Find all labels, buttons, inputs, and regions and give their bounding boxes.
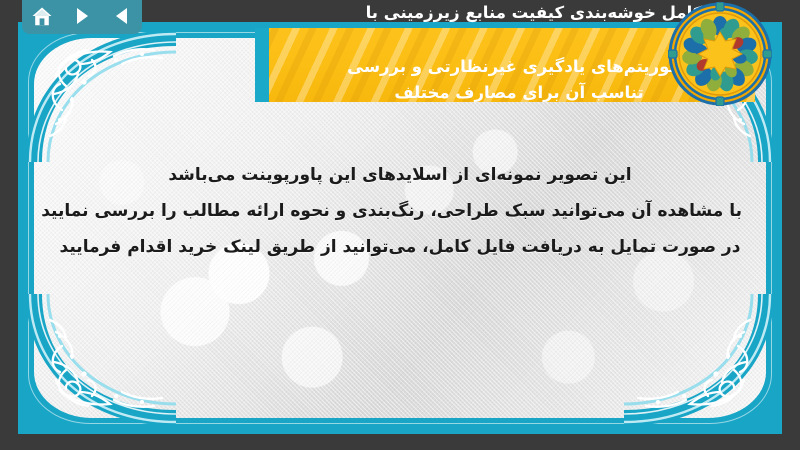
slide-title-line-1: کامل خوشه‌بندی کیفیت منابع زیرزمینی با <box>255 0 755 26</box>
slide-body: این تصویر نمونه‌ای از اسلایدهای این پاور… <box>58 157 742 265</box>
next-slide-button[interactable] <box>69 4 95 28</box>
slide-title-banner: کامل خوشه‌بندی کیفیت منابع زیرزمینی با ا… <box>255 28 755 102</box>
slide-viewer: این تصویر نمونه‌ای از اسلایدهای این پاور… <box>0 0 800 450</box>
triangle-left-icon <box>113 6 131 26</box>
body-line-3: در صورت تمایل به دریافت فایل کامل، می‌تو… <box>58 229 742 265</box>
navigation-toolbar <box>22 0 142 34</box>
slide-title-line-3: تناسب آن برای مصارف مختلف <box>394 80 643 102</box>
previous-slide-button[interactable] <box>109 4 135 28</box>
banner-title-text: کامل خوشه‌بندی کیفیت منابع زیرزمینی با ا… <box>255 28 755 102</box>
triangle-right-icon <box>73 6 91 26</box>
body-line-2: با مشاهده آن می‌توانید سبک طراحی، رنگ‌بن… <box>58 193 742 229</box>
slide-title-line-2: الگوریتم‌های یادگیری غیرنظارتی و بررسی <box>347 54 691 80</box>
body-line-1: این تصویر نمونه‌ای از اسلایدهای این پاور… <box>58 157 742 193</box>
home-icon <box>31 6 53 27</box>
home-button[interactable] <box>29 4 55 28</box>
